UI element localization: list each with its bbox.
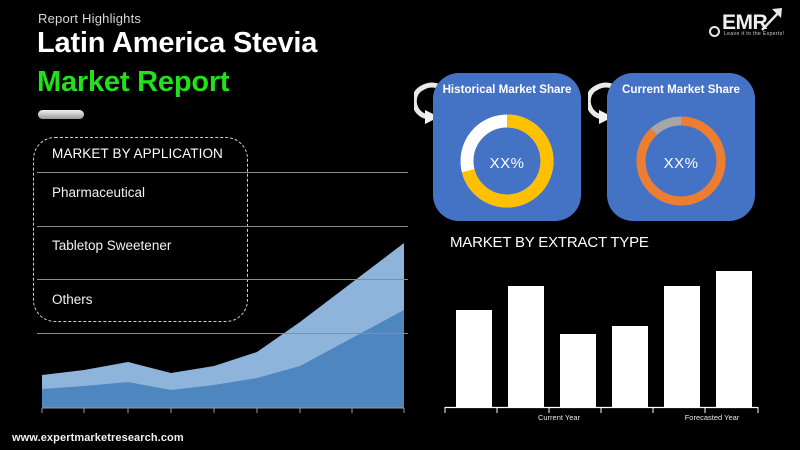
application-item-0[interactable]: Pharmaceutical <box>52 185 145 200</box>
bar <box>716 271 752 407</box>
historical-market-share-card[interactable]: Historical Market Share XX% <box>433 73 581 221</box>
extract-type-bar-chart <box>440 262 780 422</box>
row-divider <box>37 279 408 280</box>
row-divider <box>37 333 408 334</box>
historical-donut-value: XX% <box>455 109 559 218</box>
bar <box>664 286 700 407</box>
bar-tick-current-year: Current Year <box>519 413 599 423</box>
application-item-2[interactable]: Others <box>52 292 93 307</box>
bar <box>612 326 648 407</box>
market-by-extract-type-heading: MARKET BY EXTRACT TYPE <box>450 234 649 251</box>
current-market-share-card[interactable]: Current Market Share XX% <box>607 73 755 221</box>
footer-url[interactable]: www.expertmarketresearch.com <box>12 432 184 444</box>
bar <box>508 286 544 407</box>
card-title: Current Market Share <box>607 83 755 96</box>
bar <box>560 334 596 407</box>
row-divider <box>37 172 408 173</box>
market-by-application-heading: MARKET BY APPLICATION <box>52 146 223 161</box>
current-donut-value: XX% <box>629 109 733 218</box>
row-divider <box>37 226 408 227</box>
card-title: Historical Market Share <box>433 83 581 96</box>
historical-donut-chart: XX% <box>455 109 559 218</box>
application-item-1[interactable]: Tabletop Sweetener <box>52 238 171 253</box>
infographic-slide: Report Highlights Latin America Stevia M… <box>0 0 800 450</box>
bar-tick-forecasted-year: Forecasted Year <box>681 413 743 423</box>
current-donut-chart: XX% <box>629 109 733 218</box>
bar <box>456 310 492 407</box>
